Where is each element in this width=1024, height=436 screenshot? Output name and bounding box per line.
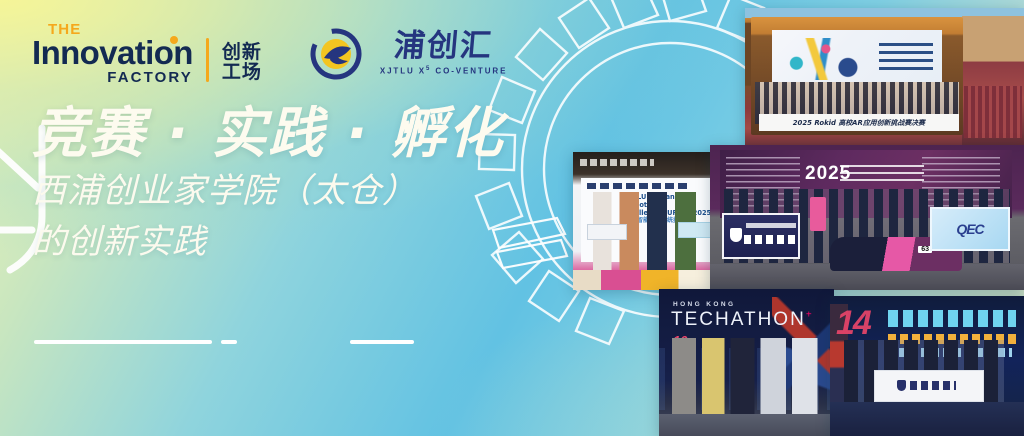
urbc-board-header-logos [587, 183, 687, 189]
stage-screen [772, 30, 942, 90]
auditorium-seats [964, 86, 1022, 138]
hall-right-wall [962, 16, 1024, 148]
techathon-title-text: TECHATHON [671, 309, 806, 330]
photo-techathon-scene: HONG KONG TECHATHON+ 10th [659, 289, 834, 436]
co-venture-wordmark: 浦创汇 XJTLU X5 CO-VENTURE [380, 31, 507, 76]
contest-edition-value: 14 [836, 304, 870, 342]
subtitle-line-2: 的创新实践 [32, 220, 552, 265]
logo-row: THE Innovation FACTORY 创新 工场 浦创汇 [32, 22, 507, 85]
formula-flag-en-text [746, 223, 796, 228]
techathon-region-label: HONG KONG [673, 301, 735, 308]
photo-hong-kong-techathon[interactable]: HONG KONG TECHATHON+ 10th [659, 289, 834, 436]
formula-flag-xjtlu [722, 213, 800, 259]
innovation-factory-wordmark: THE Innovation FACTORY [32, 22, 193, 85]
formula-pink-vest [810, 197, 826, 231]
techathon-floor [659, 414, 834, 436]
techathon-title-plus: + [806, 310, 814, 321]
promo-banner: THE Innovation FACTORY 创新 工场 浦创汇 [0, 0, 1024, 436]
formula-event-title-cn [840, 165, 924, 183]
photo-caption-rokid-num: 2025 Rokid [793, 118, 836, 126]
contest-edition-number: 14 [836, 306, 870, 340]
headline-block: 竞赛 · 实践 · 孵化 西浦创业家学院（太仓） 的创新实践 [32, 104, 552, 265]
formula-flag-cn-text [744, 235, 798, 244]
photo-caption-rokid: 2025 Rokid 高校AR应用创新挑战赛决赛 [793, 117, 925, 127]
subtitle-line-1: 西浦创业家学院（太仓） [32, 169, 552, 214]
screen-text-block [879, 43, 933, 73]
logo-cn-line2: 工场 [222, 63, 262, 83]
co-venture-subtitle-main: XJTLU X [380, 67, 426, 76]
urbc-top-logo [580, 159, 654, 166]
logo-innovation-label: Innovation [32, 34, 193, 71]
logo-factory-text: FACTORY [32, 70, 193, 85]
urbc-certificate-left [587, 224, 627, 240]
logo-innovation-text: Innovation [32, 38, 193, 68]
formula-flag-qec-text: QEC [956, 221, 983, 237]
logo-divider [206, 38, 209, 82]
co-venture-subtitle: XJTLU X5 CO-VENTURE [380, 66, 507, 76]
urbc-stage-floor [573, 270, 728, 290]
contest-stage-floor [830, 402, 1024, 436]
photo-china-innovation-contest[interactable]: 14 [830, 296, 1024, 436]
innovation-factory-logo[interactable]: THE Innovation FACTORY 创新 工场 [32, 22, 262, 85]
contest-slogan-band [888, 310, 1016, 327]
photo-urbc-award[interactable]: XJTLU Unmanned Robotics Challenge (URBC)… [573, 152, 728, 290]
photo-urbc-scene: XJTLU Unmanned Robotics Challenge (URBC)… [573, 152, 728, 290]
contest-flag-xjtlu [874, 370, 984, 402]
co-venture-logo[interactable]: 浦创汇 XJTLU X5 CO-VENTURE [304, 28, 507, 80]
rule-segment-2 [221, 340, 237, 344]
screen-artwork [778, 38, 870, 80]
logo-cn-line1: 创新 [222, 43, 262, 63]
co-venture-hanzi: 浦创汇 [393, 31, 495, 62]
photo-formula-student[interactable]: 2025 63 QEC [710, 145, 1024, 290]
co-venture-emblem-icon [304, 28, 368, 80]
xjtlu-shield-icon [897, 380, 906, 391]
photo-caption-rokid-cn: 高校AR应用创新挑战赛决赛 [839, 118, 926, 126]
page-title: 竞赛 · 实践 · 孵化 [32, 104, 552, 163]
photo-formula-scene: 2025 63 QEC [710, 145, 1024, 290]
decorative-rule [34, 340, 414, 344]
contest-flag-text [910, 381, 956, 390]
formula-flag-qec: QEC [930, 207, 1010, 251]
photo-caption-banner: 2025 Rokid 高校AR应用创新挑战赛决赛 [759, 114, 959, 131]
xjtlu-shield-icon [730, 228, 742, 242]
co-venture-subtitle-tail: CO-VENTURE [431, 67, 507, 76]
logo-chinese-name: 创新 工场 [222, 43, 262, 83]
photo-rokid-ar-finals[interactable]: 2025 Rokid 高校AR应用创新挑战赛决赛 [745, 8, 1024, 148]
rule-segment-3 [350, 340, 414, 344]
techathon-title: TECHATHON+ [671, 309, 814, 331]
photo-rokid-scene: 2025 Rokid 高校AR应用创新挑战赛决赛 [745, 8, 1024, 148]
logo-dot-icon [170, 36, 178, 44]
photo-contest-scene: 14 [830, 296, 1024, 436]
rule-segment-1 [34, 340, 212, 344]
